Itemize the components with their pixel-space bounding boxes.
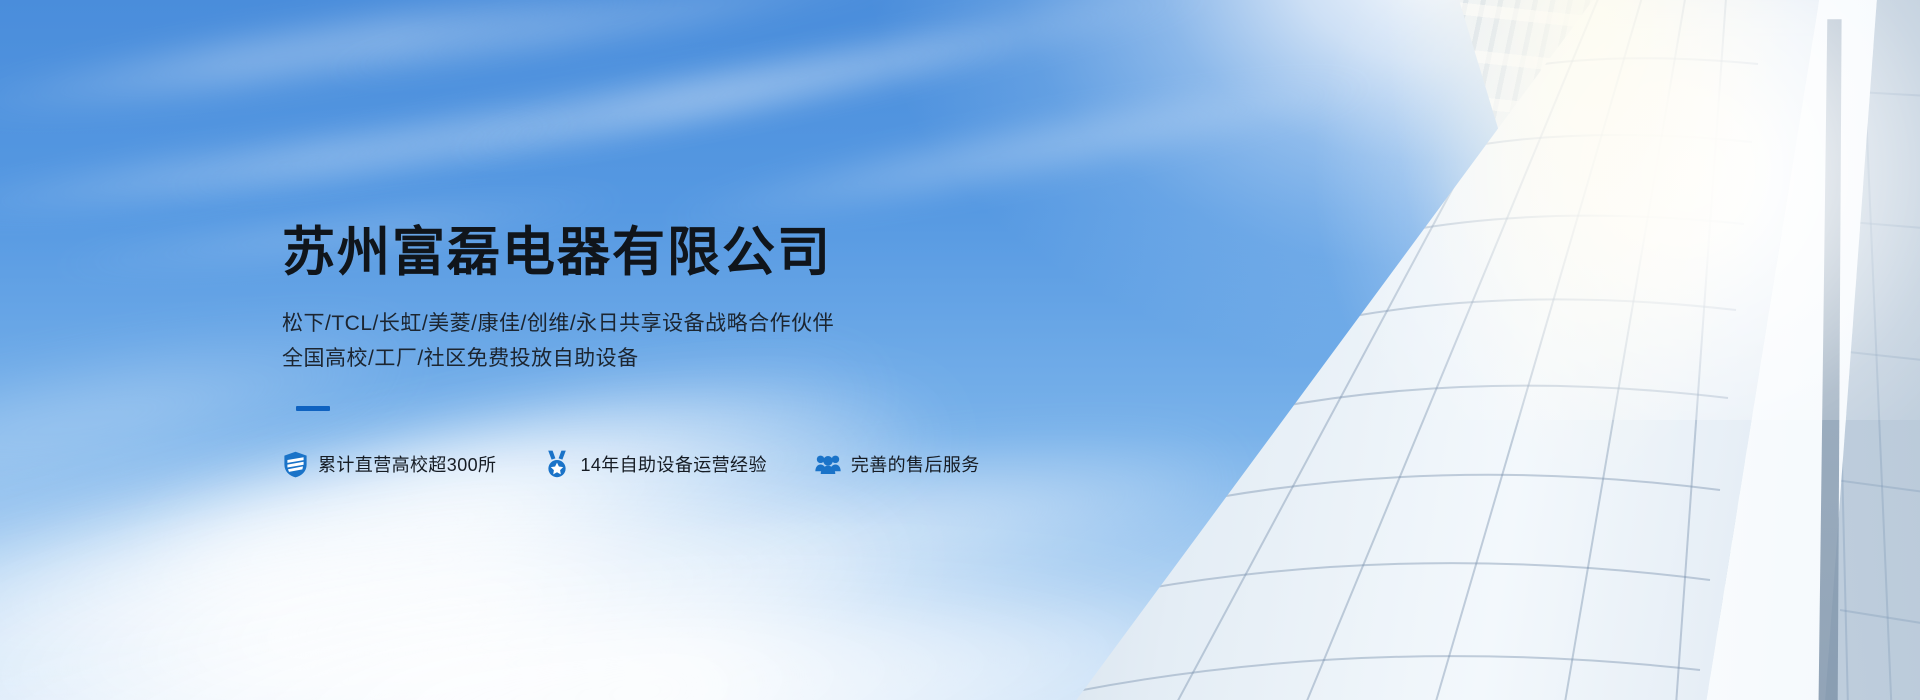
feature-badge-schools: 累计直营高校超300所 (282, 451, 496, 477)
shield-icon (282, 451, 308, 477)
feature-badge-label: 14年自助设备运营经验 (580, 451, 766, 477)
people-icon (815, 451, 841, 477)
feature-badge-label: 累计直营高校超300所 (318, 451, 496, 477)
hero-banner: 苏州富磊电器有限公司 松下/TCL/长虹/美菱/康佳/创维/永日共享设备战略合作… (0, 0, 1920, 700)
feature-badge-experience: 14年自助设备运营经验 (544, 451, 766, 477)
page-title: 苏州富磊电器有限公司 (282, 223, 980, 284)
feature-badge-service: 完善的售后服务 (815, 451, 980, 477)
feature-badge-label: 完善的售后服务 (851, 451, 980, 477)
subtitle-line-2: 全国高校/工厂/社区免费投放自助设备 (282, 341, 980, 376)
accent-divider (296, 406, 330, 411)
feature-badge-list: 累计直营高校超300所 14年自助设备运营经验 (282, 451, 980, 477)
banner-content: 苏州富磊电器有限公司 松下/TCL/长虹/美菱/康佳/创维/永日共享设备战略合作… (282, 0, 980, 700)
subtitle-line-1: 松下/TCL/长虹/美菱/康佳/创维/永日共享设备战略合作伙伴 (282, 306, 980, 341)
medal-icon (544, 451, 570, 477)
